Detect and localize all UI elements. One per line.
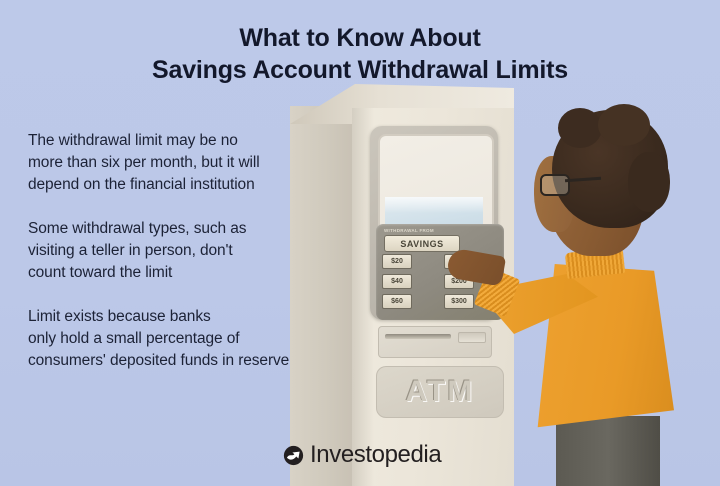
takeaway-line: only hold a small percentage of — [28, 328, 340, 350]
takeaway-item: Some withdrawal types, such as visiting … — [28, 218, 340, 284]
takeaway-item: Limit exists because banks only hold a s… — [28, 306, 340, 372]
person-hair-curl — [598, 104, 650, 146]
atm-screen-glare — [385, 197, 483, 213]
atm-amount-button[interactable]: $40 — [382, 274, 412, 289]
takeaway-line: count toward the limit — [28, 262, 340, 284]
takeaway-line: Limit exists because banks — [28, 306, 340, 328]
takeaway-line: visiting a teller in person, don't — [28, 240, 340, 262]
atm-plaque-label: ATM — [406, 375, 475, 409]
person-legs — [556, 416, 660, 486]
infographic-canvas: WITHDRAWAL FROM SAVINGS $20 $100 $40 $20… — [0, 0, 720, 486]
takeaway-line: depend on the financial institution — [28, 174, 340, 196]
atm-screen-account-label: SAVINGS — [384, 235, 460, 252]
investopedia-swirl-icon — [283, 445, 304, 466]
person-illustration — [470, 104, 720, 486]
takeaway-item: The withdrawal limit may be no more than… — [28, 130, 340, 196]
atm-amount-button[interactable]: $20 — [382, 254, 412, 269]
takeaway-line: Some withdrawal types, such as — [28, 218, 340, 240]
page-title: What to Know About Savings Account Withd… — [0, 22, 720, 86]
page-title-line-1: What to Know About — [0, 22, 720, 54]
takeaway-line: consumers' deposited funds in reserve — [28, 350, 340, 372]
takeaway-line: more than six per month, but it will — [28, 152, 340, 174]
page-title-line-2: Savings Account Withdrawal Limits — [0, 54, 720, 86]
investopedia-wordmark: Investopedia — [310, 443, 441, 467]
investopedia-logo: Investopedia — [283, 443, 441, 467]
atm-cash-slot — [385, 334, 451, 339]
atm-screen-caption: WITHDRAWAL FROM — [384, 228, 474, 233]
takeaway-line: The withdrawal limit may be no — [28, 130, 340, 152]
person-hair-curl — [628, 152, 670, 212]
atm-amount-button[interactable]: $60 — [382, 294, 412, 309]
person-glasses-lens — [540, 174, 570, 196]
key-takeaways-list: The withdrawal limit may be no more than… — [28, 130, 340, 394]
person-hair-curl — [558, 108, 602, 148]
